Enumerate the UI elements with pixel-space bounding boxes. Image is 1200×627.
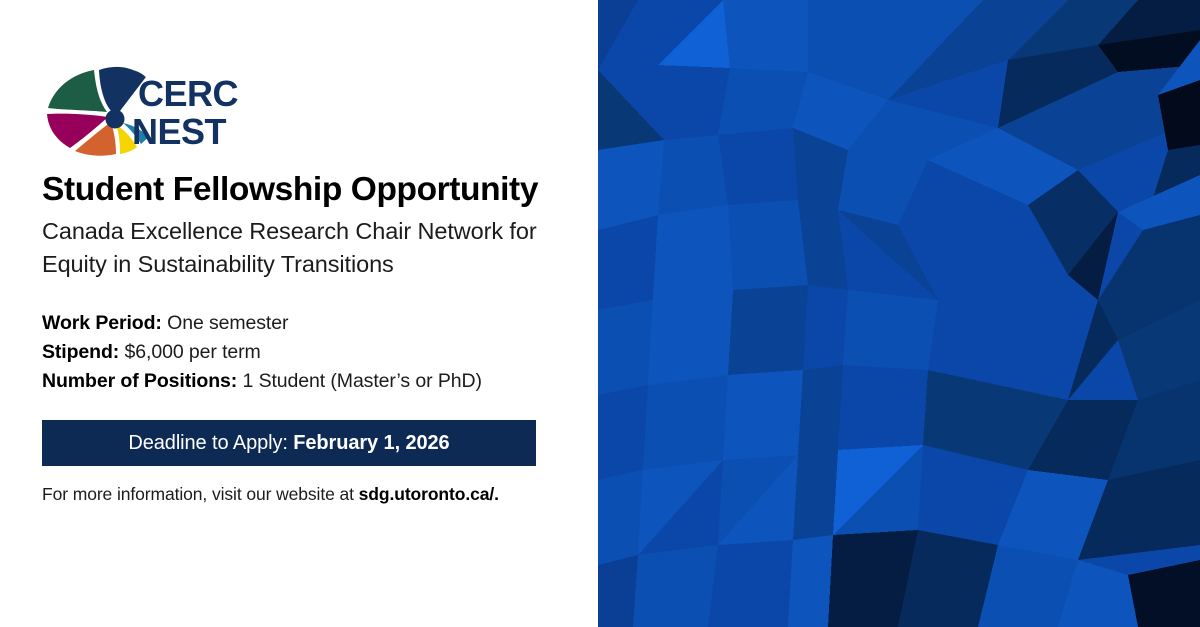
promotional-poster: CERC NEST Student Fellowship Opportunity…	[0, 0, 1200, 627]
page-title: Student Fellowship Opportunity	[42, 171, 538, 209]
detail-value-work-period: One semester	[167, 312, 288, 334]
detail-label-positions: Number of Positions:	[42, 370, 237, 392]
footer-info: For more information, visit our website …	[42, 484, 499, 505]
fellowship-details: Work Period: One semester Stipend: $6,00…	[42, 309, 582, 396]
detail-row-work-period: Work Period: One semester	[42, 309, 582, 338]
content-panel: CERC NEST Student Fellowship Opportunity…	[0, 0, 598, 627]
cerc-nest-logo[interactable]: CERC NEST	[42, 62, 262, 167]
detail-label-stipend: Stipend:	[42, 341, 119, 363]
decorative-artwork-panel	[598, 0, 1200, 627]
detail-value-positions: 1 Student (Master’s or PhD)	[243, 370, 482, 392]
page-subtitle: Canada Excellence Research Chair Network…	[42, 215, 572, 282]
deadline-date: February 1, 2026	[293, 432, 449, 454]
logo-wordmark-line1: CERC	[138, 73, 239, 114]
footer-prefix: For more information, visit our website …	[42, 484, 354, 504]
detail-row-stipend: Stipend: $6,000 per term	[42, 338, 582, 367]
deadline-text: Deadline to Apply: February 1, 2026	[128, 432, 449, 455]
low-poly-triangles-icon	[598, 0, 1200, 627]
detail-label-work-period: Work Period:	[42, 312, 162, 334]
deadline-banner: Deadline to Apply: February 1, 2026	[42, 420, 536, 466]
website-url[interactable]: sdg.utoronto.ca/.	[359, 484, 499, 504]
detail-row-positions: Number of Positions: 1 Student (Master’s…	[42, 367, 582, 396]
detail-value-stipend: $6,000 per term	[125, 341, 261, 363]
deadline-label: Deadline to Apply:	[128, 432, 287, 454]
logo-mark-icon: CERC NEST	[42, 62, 262, 167]
logo-wordmark-line2: NEST	[132, 111, 227, 152]
